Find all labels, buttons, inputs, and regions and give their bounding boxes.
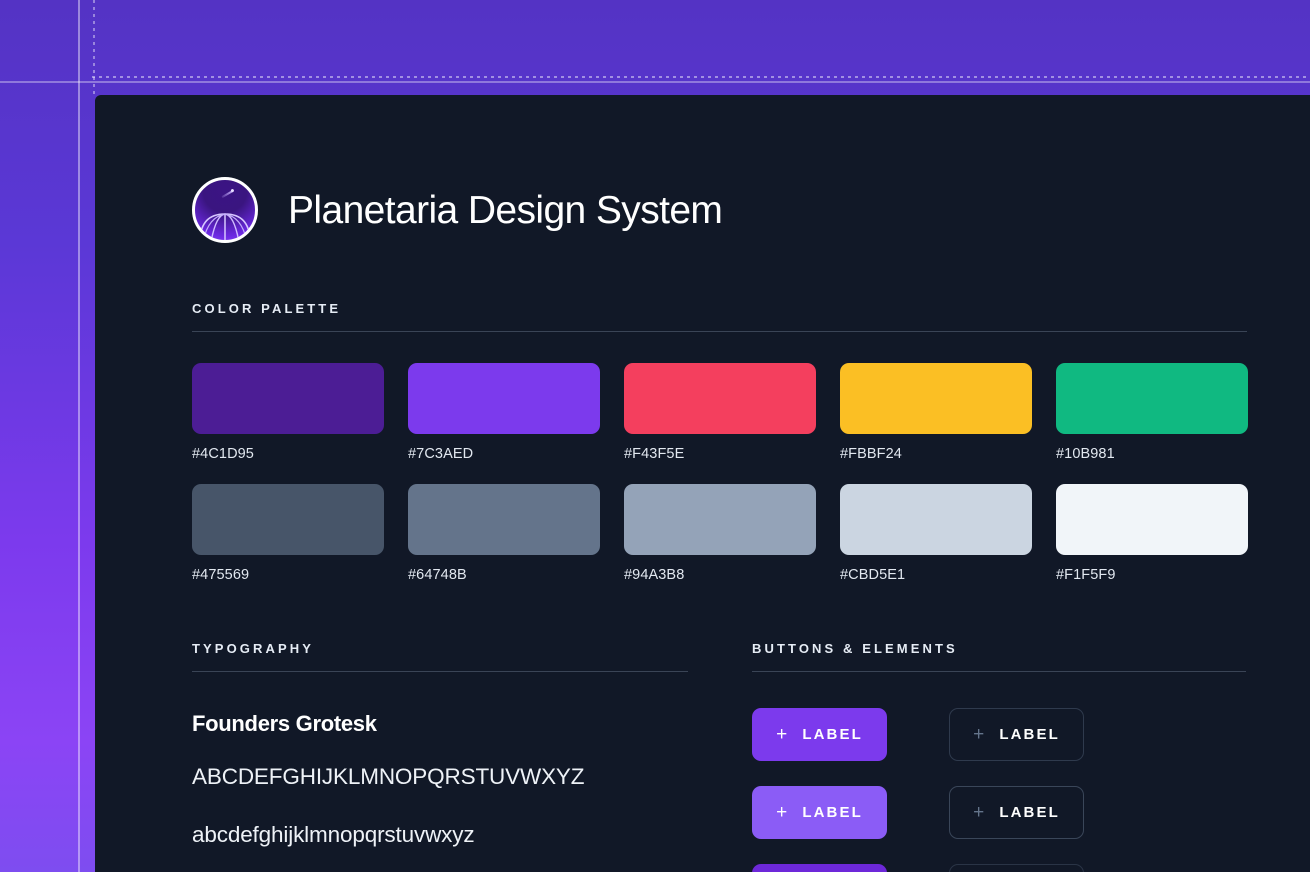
- color-swatch[interactable]: #4C1D95: [192, 363, 384, 462]
- buttons-heading: BUTTONS & ELEMENTS: [752, 641, 1248, 656]
- typography-section: TYPOGRAPHY Founders Grotesk ABCDEFGHIJKL…: [192, 641, 688, 872]
- specimen-uppercase: ABCDEFGHIJKLMNOPQRSTUVWXYZ: [192, 759, 688, 795]
- swatch-chip[interactable]: [624, 484, 816, 555]
- swatch-hex-label: #CBD5E1: [840, 567, 1032, 583]
- swatch-hex-label: #64748B: [408, 567, 600, 583]
- color-palette-heading: COLOR PALETTE: [192, 301, 1310, 316]
- ghost-button-active[interactable]: + LABEL: [949, 864, 1084, 872]
- buttons-section: BUTTONS & ELEMENTS + LABEL + LABEL: [752, 641, 1248, 872]
- swatch-chip[interactable]: [192, 363, 384, 434]
- ghost-button-hover[interactable]: + LABEL: [949, 786, 1084, 839]
- backdrop-horizontal-guide: [0, 81, 1310, 83]
- primary-button-hover[interactable]: + LABEL: [752, 786, 887, 839]
- shooting-star-icon: [221, 190, 233, 198]
- plus-icon: +: [973, 803, 986, 822]
- button-row: + LABEL + LABEL: [752, 708, 1248, 761]
- purple-backdrop: Planetaria Design System COLOR PALETTE #…: [0, 0, 1310, 872]
- typography-heading: TYPOGRAPHY: [192, 641, 688, 656]
- swatch-hex-label: #10B981: [1056, 446, 1248, 462]
- swatch-chip[interactable]: [408, 363, 600, 434]
- button-row: + LABEL + LABEL: [752, 786, 1248, 839]
- color-palette-divider: [192, 331, 1247, 332]
- swatch-chip[interactable]: [840, 363, 1032, 434]
- button-grid: + LABEL + LABEL + LABEL: [752, 708, 1248, 872]
- backdrop-horizontal-dotted-guide: [92, 76, 1310, 78]
- button-label: LABEL: [999, 804, 1060, 821]
- button-label: LABEL: [802, 726, 863, 743]
- dome-lines-icon: [199, 212, 251, 242]
- swatch-chip[interactable]: [840, 484, 1032, 555]
- planetarium-dome-icon: [192, 177, 258, 243]
- swatch-chip[interactable]: [1056, 363, 1248, 434]
- design-system-card: Planetaria Design System COLOR PALETTE #…: [95, 95, 1310, 872]
- backdrop-vertical-dotted-guide: [93, 0, 95, 97]
- color-swatch[interactable]: #475569: [192, 484, 384, 583]
- swatch-hex-label: #94A3B8: [624, 567, 816, 583]
- color-swatch-row-2: #475569 #64748B #94A3B8 #CBD5E1: [192, 484, 1310, 583]
- plus-icon: +: [776, 725, 789, 744]
- swatch-chip[interactable]: [192, 484, 384, 555]
- color-palette-section: COLOR PALETTE #4C1D95 #7C3AED #F43F5E: [192, 301, 1310, 583]
- button-label: LABEL: [999, 726, 1060, 743]
- color-swatch[interactable]: #7C3AED: [408, 363, 600, 462]
- page-title: Planetaria Design System: [288, 191, 722, 230]
- primary-button-active[interactable]: + LABEL: [752, 864, 887, 872]
- primary-button-default[interactable]: + LABEL: [752, 708, 887, 761]
- swatch-hex-label: #4C1D95: [192, 446, 384, 462]
- backdrop-vertical-guide: [78, 0, 80, 872]
- color-swatch[interactable]: #F43F5E: [624, 363, 816, 462]
- specimen-lowercase: abcdefghijklmnopqrstuvwxyz: [192, 817, 688, 853]
- lower-columns: TYPOGRAPHY Founders Grotesk ABCDEFGHIJKL…: [192, 641, 1310, 872]
- swatch-hex-label: #7C3AED: [408, 446, 600, 462]
- swatch-hex-label: #475569: [192, 567, 384, 583]
- button-row: + LABEL + LABEL: [752, 864, 1248, 872]
- plus-icon: +: [776, 803, 789, 822]
- swatch-chip[interactable]: [408, 484, 600, 555]
- swatch-hex-label: #F1F5F9: [1056, 567, 1248, 583]
- typography-divider: [192, 671, 688, 672]
- color-swatch[interactable]: #94A3B8: [624, 484, 816, 583]
- color-swatch[interactable]: #F1F5F9: [1056, 484, 1248, 583]
- font-family-name: Founders Grotesk: [192, 711, 688, 737]
- brand-header: Planetaria Design System: [192, 177, 1310, 243]
- swatch-hex-label: #FBBF24: [840, 446, 1032, 462]
- swatch-hex-label: #F43F5E: [624, 446, 816, 462]
- color-swatch[interactable]: #64748B: [408, 484, 600, 583]
- color-swatch[interactable]: #CBD5E1: [840, 484, 1032, 583]
- color-swatch[interactable]: #10B981: [1056, 363, 1248, 462]
- ghost-button-default[interactable]: + LABEL: [949, 708, 1084, 761]
- swatch-chip[interactable]: [624, 363, 816, 434]
- plus-icon: +: [973, 725, 986, 744]
- swatch-chip[interactable]: [1056, 484, 1248, 555]
- buttons-divider: [752, 671, 1246, 672]
- color-swatch-row-1: #4C1D95 #7C3AED #F43F5E #FBBF24: [192, 363, 1310, 462]
- color-swatch[interactable]: #FBBF24: [840, 363, 1032, 462]
- button-label: LABEL: [802, 804, 863, 821]
